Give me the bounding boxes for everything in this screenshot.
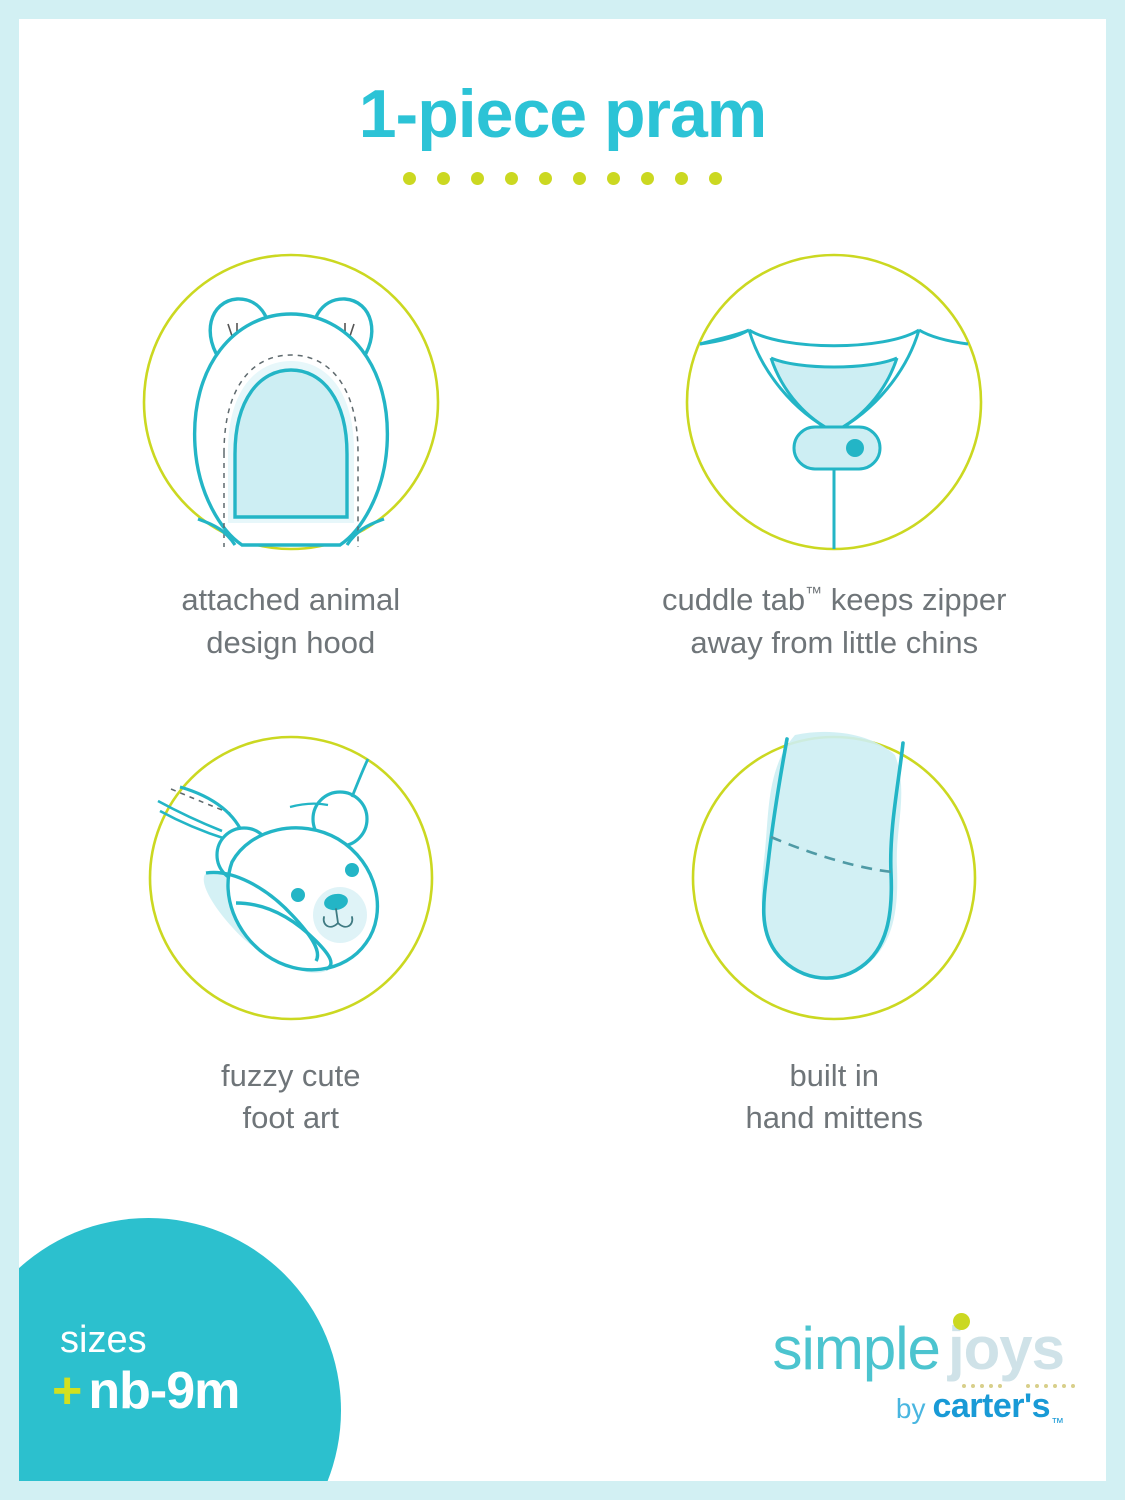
logo-underdot <box>971 1384 975 1388</box>
divider-dot <box>437 172 450 185</box>
caption-line: attached animal <box>181 579 400 622</box>
brand-logo: simple joys <box>773 1319 1064 1423</box>
logo-underdot <box>998 1384 1002 1388</box>
caption-line: fuzzy cute <box>221 1055 361 1098</box>
feature-caption: attached animal design hood <box>181 579 400 665</box>
size-badge-text: sizes + nb-9m <box>52 1321 239 1417</box>
content-card: 1-piece pram <box>19 19 1106 1481</box>
feature-caption: built in hand mittens <box>746 1055 924 1141</box>
logo-underdot <box>989 1384 993 1388</box>
dot-divider <box>19 172 1106 185</box>
feature-item: attached animal design hood <box>19 251 563 665</box>
feature-grid: attached animal design hood <box>19 251 1106 1140</box>
bear-hood-icon <box>140 251 442 553</box>
divider-dot <box>403 172 416 185</box>
divider-dot <box>641 172 654 185</box>
logo-underdot <box>1053 1384 1057 1388</box>
divider-dot <box>573 172 586 185</box>
page-title: 1-piece pram <box>19 79 1106 150</box>
size-range-value: nb-9m <box>88 1365 239 1417</box>
logo-by-text: by <box>896 1395 926 1423</box>
logo-underdot <box>980 1384 984 1388</box>
divider-dot <box>607 172 620 185</box>
divider-dot <box>505 172 518 185</box>
hand-mitten-icon <box>683 727 985 1029</box>
caption-line: cuddle tab™ keeps zipper <box>662 579 1006 622</box>
divider-dot <box>471 172 484 185</box>
logo-underdot <box>1044 1384 1048 1388</box>
size-badge: sizes + nb-9m <box>19 1218 341 1481</box>
logo-wordmark: simple joys <box>773 1319 1064 1379</box>
logo-simple-text: simple <box>773 1319 940 1379</box>
product-feature-infographic: 1-piece pram <box>0 0 1125 1500</box>
header: 1-piece pram <box>19 79 1106 185</box>
size-label: sizes <box>60 1321 239 1359</box>
logo-byline: by carter's ™ <box>773 1389 1064 1423</box>
cuddle-tab-collar-icon <box>683 251 985 553</box>
caption-line: foot art <box>221 1097 361 1140</box>
feature-item: cuddle tab™ keeps zipper away from littl… <box>563 251 1107 665</box>
divider-dot <box>675 172 688 185</box>
logo-underdot <box>1071 1384 1075 1388</box>
logo-underdot <box>1062 1384 1066 1388</box>
logo-underdot <box>1035 1384 1039 1388</box>
feature-caption: cuddle tab™ keeps zipper away from littl… <box>662 579 1006 665</box>
feature-item: built in hand mittens <box>563 727 1107 1141</box>
logo-joys-wrap: joys <box>948 1319 1064 1379</box>
logo-carters-text: carter's <box>932 1389 1050 1423</box>
logo-underdots-left <box>962 1384 1002 1388</box>
size-plus-sign: + <box>52 1365 82 1417</box>
caption-line: away from little chins <box>662 622 1006 665</box>
logo-underdot <box>962 1384 966 1388</box>
divider-dot <box>709 172 722 185</box>
divider-dot <box>539 172 552 185</box>
bear-foot-icon <box>140 727 442 1029</box>
size-value-row: + nb-9m <box>52 1365 239 1417</box>
feature-caption: fuzzy cute foot art <box>221 1055 361 1141</box>
caption-line: hand mittens <box>746 1097 924 1140</box>
logo-underdot <box>1026 1384 1030 1388</box>
caption-line: design hood <box>181 622 400 665</box>
feature-item: fuzzy cute foot art <box>19 727 563 1141</box>
caption-line: built in <box>746 1055 924 1098</box>
logo-lime-dot-icon <box>953 1313 970 1330</box>
logo-underdots-right <box>1026 1384 1075 1388</box>
